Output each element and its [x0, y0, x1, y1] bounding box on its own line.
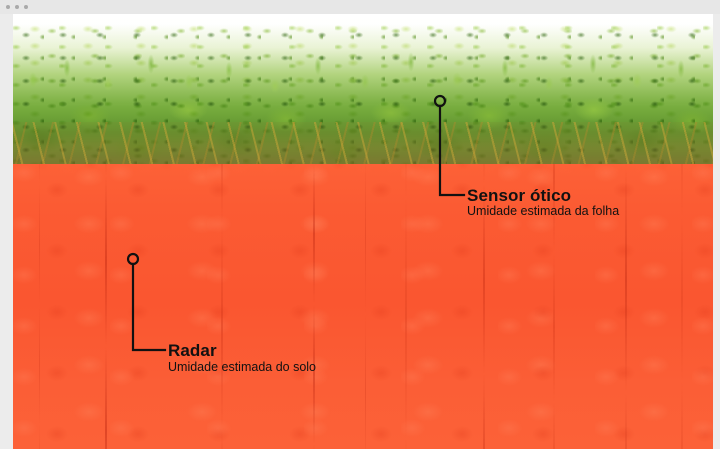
radar-marker-circle [128, 254, 138, 264]
app-window: Sensor ótico Umidade estimada da folha R… [0, 0, 720, 449]
window-minimize-dot[interactable] [15, 5, 19, 9]
window-title-bar [0, 0, 720, 14]
window-maximize-dot[interactable] [24, 5, 28, 9]
radar-leader-path [133, 264, 165, 350]
window-close-dot[interactable] [6, 5, 10, 9]
radar-subtitle: Umidade estimada do solo [168, 360, 316, 374]
window-controls [6, 5, 28, 9]
radar-leader-line [13, 14, 713, 449]
page-gutter-left [0, 14, 13, 449]
radar-title: Radar [168, 342, 217, 360]
page-gutter-right [713, 14, 720, 449]
annotation-radar: Radar Umidade estimada do solo [13, 14, 713, 449]
crop-soil-cross-section-image: Sensor ótico Umidade estimada da folha R… [13, 14, 713, 449]
